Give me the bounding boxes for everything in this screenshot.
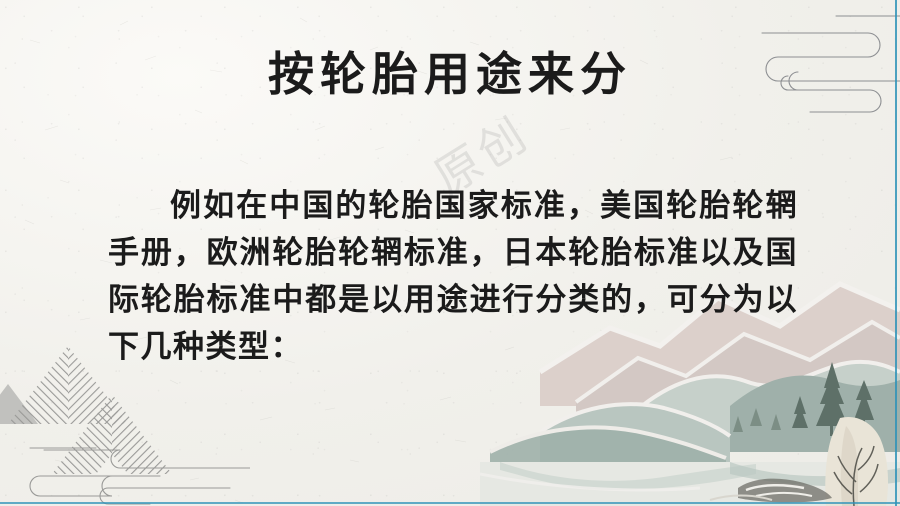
- slide-title: 按轮胎用途来分: [0, 50, 900, 101]
- slide-body-text: 例如在中国的轮胎国家标准，美国轮胎轮辋手册，欧洲轮胎轮辋标准，日本轮胎标准以及国…: [108, 182, 798, 370]
- slide-canvas: 原创 按轮胎用途来分 例如在中国的轮胎国家标准，美国轮胎轮辋手册，欧洲轮胎轮辋标…: [0, 0, 900, 506]
- accent-line-bottom: [0, 502, 900, 504]
